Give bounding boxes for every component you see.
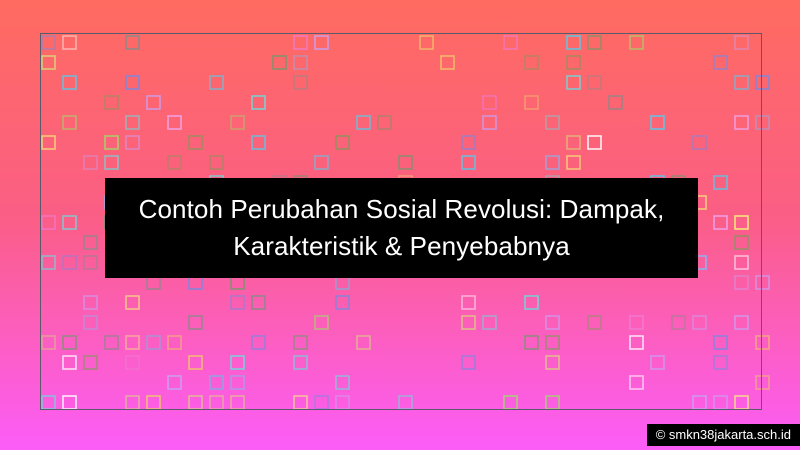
page-title-line-1: Contoh Perubahan Sosial Revolusi: Dampak… [139, 194, 665, 224]
title-card: Contoh Perubahan Sosial Revolusi: Dampak… [105, 178, 698, 278]
page-title-line-2: Karakteristik & Penyebabnya [233, 231, 570, 261]
attribution-text: © smkn38jakarta.sch.id [656, 427, 791, 442]
slide-canvas: Contoh Perubahan Sosial Revolusi: Dampak… [0, 0, 800, 450]
page-title: Contoh Perubahan Sosial Revolusi: Dampak… [125, 191, 679, 265]
attribution-badge: © smkn38jakarta.sch.id [647, 424, 800, 446]
